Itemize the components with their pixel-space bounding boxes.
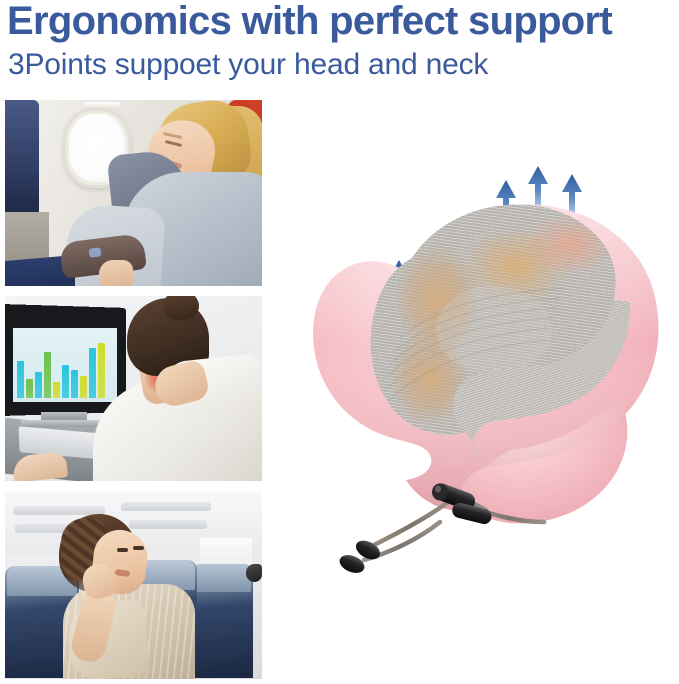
handbag-clasp xyxy=(88,247,101,257)
bar-chart-bar xyxy=(80,376,87,398)
page-subtitle: 3Points suppoet your head and neck xyxy=(8,46,488,84)
resting-hand xyxy=(99,260,133,286)
overhead-bin-right-2 xyxy=(129,520,207,529)
eye-right xyxy=(133,546,144,550)
bar-chart-bar xyxy=(17,361,24,398)
photo-2-canvas xyxy=(5,296,262,481)
bar-chart-bar xyxy=(35,372,42,398)
photo-neck-pain-at-desk xyxy=(5,296,262,481)
hair-bun xyxy=(163,296,199,320)
bar-chart-bar xyxy=(62,365,69,398)
bar-chart xyxy=(17,334,113,398)
bar-chart-bar xyxy=(89,348,96,398)
photo-3-canvas xyxy=(5,492,262,679)
bar-chart-bar xyxy=(53,382,60,398)
bar-chart-bar xyxy=(26,379,33,398)
photo-1-canvas xyxy=(5,100,262,286)
bar-chart-bar xyxy=(98,343,105,398)
eye-left xyxy=(117,548,128,552)
mesh-warm-highlight xyxy=(528,212,612,272)
photo-neck-pain-on-plane xyxy=(5,492,262,679)
seat-back-blue xyxy=(5,100,39,218)
product-image-travel-pillow xyxy=(280,150,679,610)
page-title: Ergonomics with perfect support xyxy=(7,0,679,45)
photo-sleeping-on-plane xyxy=(5,100,262,286)
bar-chart-bar xyxy=(71,370,78,398)
bar-chart-bar xyxy=(44,352,51,398)
cabin-seat-far-headrest xyxy=(193,564,251,592)
cabin-handle xyxy=(246,564,262,582)
overhead-bin-right xyxy=(121,502,211,511)
